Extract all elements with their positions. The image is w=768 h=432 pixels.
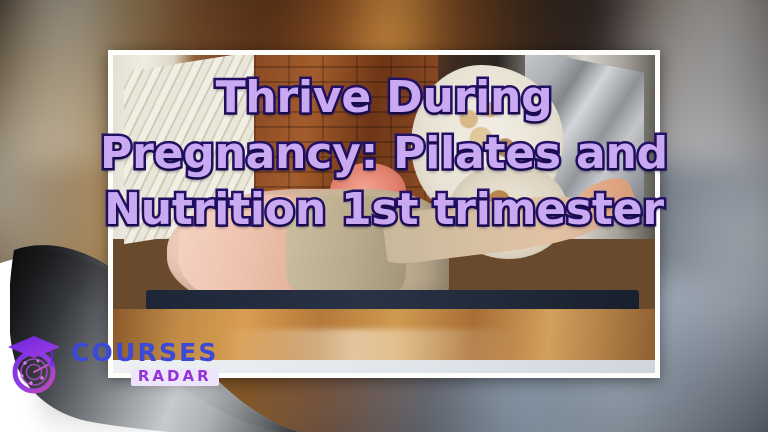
- courses-radar-logo[interactable]: COURSES RADAR: [8, 332, 219, 394]
- logo-radar-text: RADAR: [138, 369, 212, 384]
- banner-headline: Thrive During Pregnancy: Pilates and Nut…: [0, 70, 768, 238]
- headline-line-2: Pregnancy: Pilates and: [0, 126, 768, 182]
- banner-canvas: Thrive During Pregnancy: Pilates and Nut…: [0, 0, 768, 432]
- logo-courses-text: COURSES: [71, 340, 219, 366]
- headline-line-3: Nutrition 1st trimester: [0, 182, 768, 238]
- logo-radar-badge: RADAR: [131, 368, 219, 386]
- graduation-cap-radar-icon: [8, 332, 64, 394]
- logo-wordmark: COURSES RADAR: [71, 340, 219, 386]
- headline-line-1: Thrive During: [0, 70, 768, 126]
